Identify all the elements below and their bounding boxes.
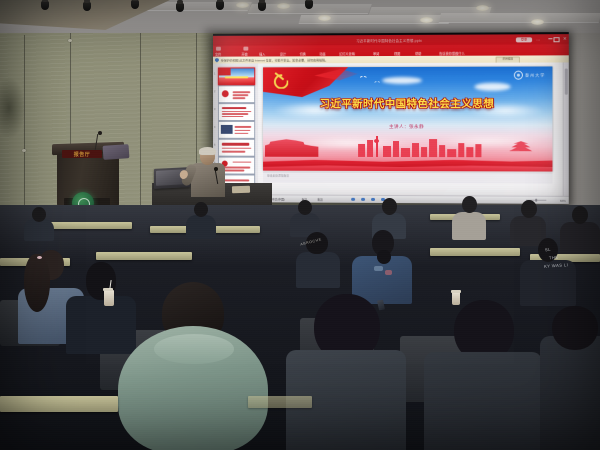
ribbon-tab-7[interactable]: 审阅: [373, 51, 379, 56]
downlight: [476, 5, 489, 11]
building: [458, 143, 464, 157]
tiananmen-silhouette: [265, 136, 318, 157]
audience-member-foreground-far-right: [424, 300, 542, 450]
ribbon-tab-5[interactable]: 动画: [319, 51, 325, 56]
person-head: [572, 206, 588, 224]
protected-view-text: 受保护的视图 此文件来自 Internet 位置，可能不安全。如非必要，请勿启用…: [221, 58, 328, 62]
presenter-hair: [199, 147, 216, 155]
wall-seam: [24, 35, 25, 215]
cloud: [474, 83, 510, 91]
thumbnail-number-1: 1: [214, 72, 215, 75]
desk: [96, 252, 192, 260]
cloud: [382, 77, 422, 84]
building: [429, 139, 437, 157]
spotlight: [258, 2, 266, 11]
person-head: [382, 198, 397, 215]
lecture-hall-photo: 习近平新时代中国特色社会主义思想.pptx 登录 ··· ✕ 文件 开始 插入 …: [0, 0, 600, 450]
university-logo: 泰州大学: [514, 71, 545, 80]
presenter-microphone-icon: [214, 167, 218, 171]
person-torso: [186, 215, 216, 239]
scrollbar-thumb[interactable]: [565, 68, 568, 94]
spotlight: [131, 0, 139, 9]
person-torso: [452, 212, 486, 240]
building: [383, 146, 391, 157]
hair-scrunchie: [37, 256, 42, 259]
hammer-and-sickle-icon: [272, 72, 287, 87]
thumbnail-number-3: 3: [214, 108, 215, 111]
paste-icon[interactable]: [243, 46, 248, 50]
city-skyline: [263, 133, 552, 157]
ribbon-tab-8[interactable]: 视图: [394, 50, 400, 55]
ponytail: [24, 254, 50, 312]
ribbon-tab-3[interactable]: 设计: [280, 51, 286, 56]
spotlight: [176, 3, 184, 12]
university-seal-icon: [514, 71, 523, 80]
downlight: [236, 2, 249, 8]
downlight: [318, 15, 331, 21]
ribbon-tab-2[interactable]: 插入: [259, 51, 265, 56]
vertical-scrollbar[interactable]: [563, 62, 569, 196]
paper-sheet: [232, 186, 250, 194]
maximize-icon[interactable]: [553, 37, 559, 42]
building: [401, 148, 410, 157]
hoodie-print-line2: THE: [549, 256, 559, 261]
jacket-badge: [385, 270, 392, 275]
university-name: 泰州大学: [525, 72, 545, 78]
building: [367, 140, 373, 157]
wall-fixing: [22, 149, 26, 152]
more-options-icon[interactable]: ···: [536, 38, 540, 42]
hoodie-print-line1: SL: [545, 248, 551, 253]
person-torso: [24, 219, 54, 241]
audience-member: [24, 205, 54, 239]
person-head: [32, 207, 46, 222]
person-bun: [377, 250, 391, 264]
ribbon-tab-9[interactable]: 帮助: [415, 50, 421, 55]
projection-screen: 习近平新时代中国特色社会主义思想.pptx 登录 ··· ✕ 文件 开始 插入 …: [213, 32, 569, 204]
building: [412, 143, 419, 157]
close-icon[interactable]: ✕: [563, 37, 567, 40]
slide-thumbnail-4[interactable]: [218, 121, 255, 139]
dove-icon: [375, 81, 380, 83]
wall-seam: [140, 33, 141, 211]
wall-fixing: [68, 39, 72, 42]
login-button[interactable]: 登录: [516, 37, 532, 42]
slide-title: 习近平新时代中国特色社会主义思想: [263, 96, 552, 111]
building: [466, 147, 473, 157]
audience-member: [186, 202, 216, 238]
slide-thumbnail-2[interactable]: [218, 85, 255, 103]
thumbnail-number-5: 5: [214, 144, 215, 147]
person-head: [521, 200, 537, 218]
person-head: [298, 200, 312, 215]
audience-member-edge-right: [540, 306, 600, 450]
shield-icon: [215, 58, 219, 62]
building: [447, 149, 456, 157]
audience-member: [290, 200, 320, 236]
current-slide[interactable]: 泰州大学 习近平新时代中国特色社会主义思想 主讲人：张永静: [263, 66, 552, 171]
audience-member-denim: [352, 230, 412, 302]
presenter: [186, 148, 232, 196]
spotlight: [305, 0, 313, 9]
normal-view-icon[interactable]: [351, 197, 355, 201]
person-head: [552, 306, 598, 350]
thumbnail-number-4: 4: [214, 126, 215, 129]
audience-member-foreground-right: [286, 294, 406, 450]
building: [358, 144, 365, 157]
language-indicator[interactable]: 中文(中国): [272, 197, 285, 201]
tv-tower: [376, 136, 378, 157]
ribbon-tab-4[interactable]: 切换: [300, 51, 306, 56]
spotlight: [216, 1, 224, 10]
cup-lid: [451, 290, 461, 293]
desk: [0, 396, 118, 412]
editing-area: 1 2 3: [213, 62, 569, 196]
thumbnail-number-2: 2: [214, 90, 215, 93]
slide-thumbnail-1[interactable]: [218, 67, 255, 85]
notes-placeholder: 单击此处添加备注: [267, 174, 289, 178]
podium-plate-text: 报告厅: [74, 151, 91, 158]
building: [439, 145, 445, 157]
pagoda-silhouette: [508, 141, 534, 157]
minimize-icon[interactable]: [548, 38, 552, 39]
ribbon-tab-1[interactable]: 开始: [241, 51, 247, 56]
person-torso: [540, 336, 600, 450]
person-head: [194, 202, 208, 217]
spotlight: [41, 1, 49, 10]
ribbon-tab-0[interactable]: 文件: [215, 51, 221, 56]
desk: [430, 248, 520, 256]
notes-pane[interactable]: [263, 172, 552, 184]
slide-canvas-area[interactable]: 泰州大学 习近平新时代中国特色社会主义思想 主讲人：张永静: [258, 62, 557, 196]
drink-cup: [104, 290, 114, 306]
file-menu-icon[interactable]: [216, 47, 221, 51]
building: [393, 141, 399, 157]
downlight: [531, 19, 544, 25]
login-label: 登录: [516, 37, 532, 42]
downlight: [277, 3, 290, 9]
podium-nameplate: 报告厅: [62, 150, 102, 158]
building: [475, 144, 481, 157]
slide-thumbnail-3[interactable]: [218, 103, 255, 121]
downlight: [420, 17, 433, 23]
audience-member-foreground-hoodie: [118, 282, 268, 450]
zoom-level[interactable]: 66%: [560, 199, 566, 203]
slide-sorter-icon[interactable]: [361, 197, 365, 201]
ceiling-panel: [439, 13, 600, 22]
building: [421, 147, 427, 157]
audience-member: [452, 196, 486, 238]
hood-fold: [154, 334, 234, 364]
person-torso: [296, 252, 340, 288]
document-title: 习近平新时代中国特色社会主义思想.pptx: [356, 38, 422, 43]
desk: [248, 396, 312, 408]
ribbon-tab-10[interactable]: 告诉我你想做什么: [439, 50, 465, 55]
person-head: [462, 196, 477, 213]
dove-icon: [360, 76, 366, 79]
podium-item: [103, 144, 130, 160]
podium-microphone-icon: [98, 131, 102, 135]
person-torso: [424, 352, 542, 450]
spotlight: [83, 2, 91, 11]
cup-lid: [103, 288, 113, 291]
ribbon-tab-6[interactable]: 幻灯片放映: [339, 51, 355, 56]
jacket-badge: [374, 266, 383, 271]
